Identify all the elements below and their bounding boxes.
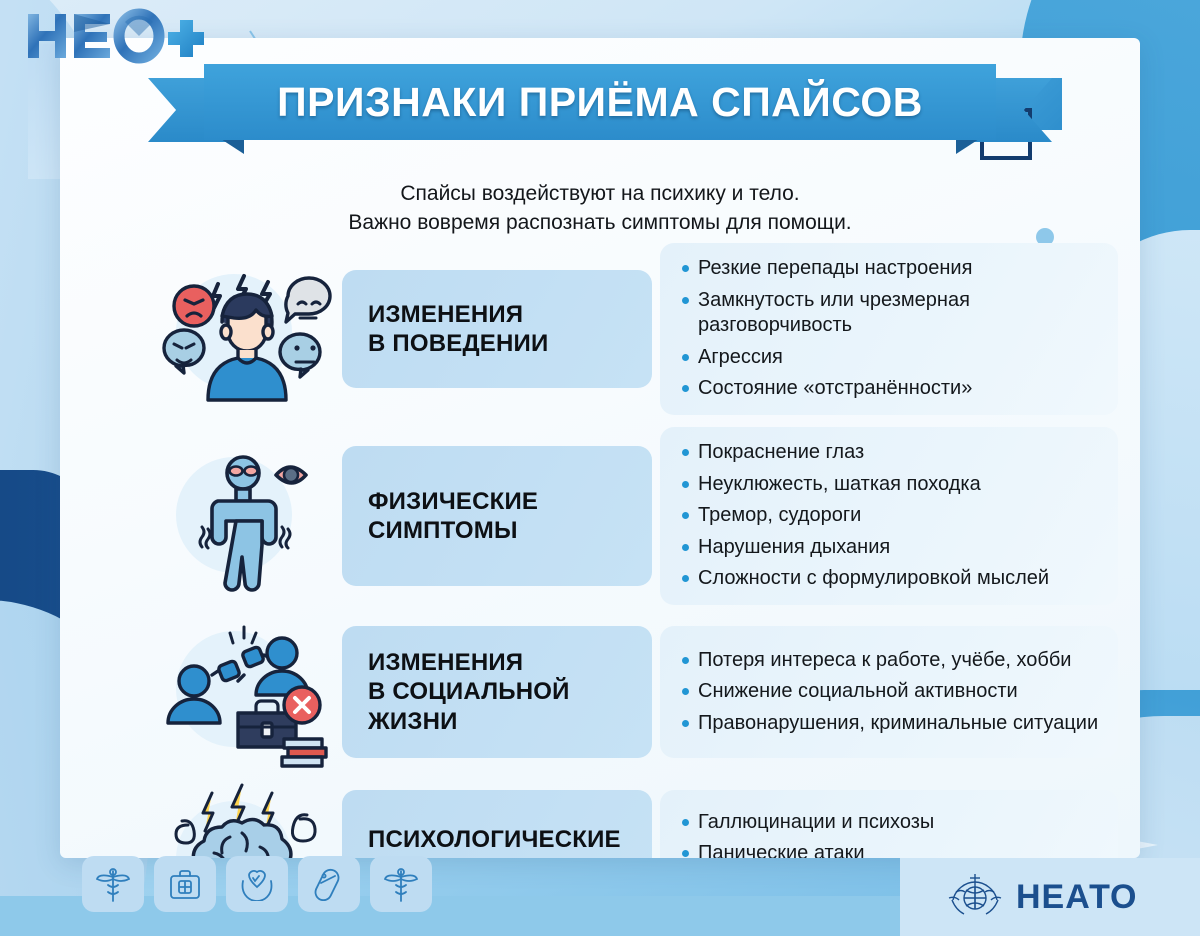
bullet-item: Сложности с формулировкой мыслей — [682, 566, 1102, 592]
section-label-line: ЖИЗНИ — [368, 707, 570, 736]
bullet-text: Потеря интереса к работе, учёбе, хобби — [698, 648, 1071, 674]
bullet-text: Резкие перепады настроения — [698, 256, 972, 282]
subtitle-block: Спайсы воздействуют на психику и тело. В… — [60, 180, 1140, 238]
bullet-item: Панические атаки — [682, 841, 1102, 858]
section-label-line: ИЗМЕНЕНИЯ — [368, 648, 570, 677]
bullet-dot-icon — [682, 265, 689, 272]
bullet-dot-icon — [682, 385, 689, 392]
capsule-pill-icon — [298, 856, 360, 912]
bullet-text: Тремор, судороги — [698, 503, 861, 529]
section-bullets-card: Потеря интереса к работе, учёбе, хобби С… — [660, 626, 1118, 758]
bullet-dot-icon — [682, 819, 689, 826]
bullet-text: Сложности с формулировкой мыслей — [698, 566, 1049, 592]
title-ribbon: ПРИЗНАКИ ПРИЁМА СПАЙСОВ — [60, 64, 1140, 156]
bullet-text: Покраснение глаз — [698, 440, 864, 466]
section-label-line: В СОЦИАЛЬНОЙ — [368, 677, 570, 706]
bullet-text: Неуклюжесть, шаткая походка — [698, 472, 981, 498]
brain-lightning-icon — [142, 779, 342, 858]
bullet-text: Замкнутость или чрезмерная разговорчивос… — [698, 288, 1102, 339]
section-label-card: ИЗМЕНЕНИЯ В СОЦИАЛЬНОЙ ЖИЗНИ — [342, 626, 652, 758]
who-emblem-icon — [946, 868, 1004, 926]
bullet-text: Нарушения дыхания — [698, 535, 890, 561]
bullet-dot-icon — [682, 688, 689, 695]
section-label-card: ПСИХОЛОГИЧЕСКИЕ СИМПТОМЫ — [342, 790, 652, 858]
neo-plus-logo-icon — [24, 8, 204, 64]
section-label-line: ФИЗИЧЕСКИЕ — [368, 487, 538, 516]
first-aid-kit-icon — [154, 856, 216, 912]
section-label-card: ИЗМЕНЕНИЯ В ПОВЕДЕНИИ — [342, 270, 652, 388]
bullet-item: Агрессия — [682, 345, 1102, 371]
bullet-dot-icon — [682, 297, 689, 304]
org-label: НЕАТО — [1016, 878, 1137, 917]
page-title: ПРИЗНАКИ ПРИЁМА СПАЙСОВ — [277, 79, 923, 126]
section-bullets-card: Галлюцинации и психозы Панические атаки … — [660, 790, 1118, 858]
bullet-item: Покраснение глаз — [682, 440, 1102, 466]
org-badge: НЕАТО — [900, 858, 1200, 936]
bullet-dot-icon — [682, 575, 689, 582]
caduceus-icon — [370, 856, 432, 912]
bullet-item: Резкие перепады настроения — [682, 256, 1102, 282]
bullet-dot-icon — [682, 481, 689, 488]
bullet-item: Правонарушения, криминальные ситуации — [682, 711, 1102, 737]
broken-social-link-briefcase-icon — [142, 617, 342, 767]
bullet-item: Потеря интереса к работе, учёбе, хобби — [682, 648, 1102, 674]
infographic-card: ПРИЗНАКИ ПРИЁМА СПАЙСОВ Спайсы воздейств… — [60, 38, 1140, 858]
bullet-dot-icon — [682, 544, 689, 551]
ribbon-body: ПРИЗНАКИ ПРИЁМА СПАЙСОВ — [204, 64, 996, 140]
bullet-text: Состояние «отстранённости» — [698, 376, 972, 402]
bullet-dot-icon — [682, 720, 689, 727]
footer-icon-strip — [82, 856, 432, 912]
section-label-line: ИЗМЕНЕНИЯ — [368, 300, 548, 329]
bullet-text: Панические атаки — [698, 841, 865, 858]
bullet-dot-icon — [682, 449, 689, 456]
bullet-text: Галлюцинации и психозы — [698, 810, 934, 836]
sections-list: ИЗМЕНЕНИЯ В ПОВЕДЕНИИ Резкие перепады на… — [142, 243, 1118, 858]
section-bullets-card: Резкие перепады настроения Замкнутость и… — [660, 243, 1118, 415]
section-label-line: ПСИХОЛОГИЧЕСКИЕ — [368, 825, 621, 854]
bullet-item: Неуклюжесть, шаткая походка — [682, 472, 1102, 498]
bullet-dot-icon — [682, 850, 689, 857]
bullet-item: Галлюцинации и психозы — [682, 810, 1102, 836]
angry-person-emotions-icon — [142, 254, 342, 404]
brand-logo — [24, 8, 204, 71]
bullet-text: Правонарушения, криминальные ситуации — [698, 711, 1098, 737]
subtitle-line-2: Важно вовремя распознать симптомы для по… — [60, 209, 1140, 238]
bullet-item: Замкнутость или чрезмерная разговорчивос… — [682, 288, 1102, 339]
subtitle-line-1: Спайсы воздействуют на психику и тело. — [60, 180, 1140, 209]
section-label-line: В ПОВЕДЕНИИ — [368, 329, 548, 358]
section-label-line: СИМПТОМЫ — [368, 516, 538, 545]
bullet-item: Нарушения дыхания — [682, 535, 1102, 561]
bullet-text: Агрессия — [698, 345, 783, 371]
bullet-item: Тремор, судороги — [682, 503, 1102, 529]
section-row: ИЗМЕНЕНИЯ В СОЦИАЛЬНОЙ ЖИЗНИ Потеря инте… — [142, 617, 1118, 767]
caduceus-icon — [82, 856, 144, 912]
trembling-figure-red-eye-icon — [142, 441, 342, 591]
section-row: ФИЗИЧЕСКИЕ СИМПТОМЫ Покраснение глаз Неу… — [142, 427, 1118, 605]
bullet-dot-icon — [682, 354, 689, 361]
heart-in-hands-icon — [226, 856, 288, 912]
bullet-dot-icon — [682, 657, 689, 664]
section-row: ПСИХОЛОГИЧЕСКИЕ СИМПТОМЫ Галлюцинации и … — [142, 779, 1118, 858]
bullet-text: Снижение социальной активности — [698, 679, 1018, 705]
bullet-item: Состояние «отстранённости» — [682, 376, 1102, 402]
section-label-card: ФИЗИЧЕСКИЕ СИМПТОМЫ — [342, 446, 652, 586]
section-row: ИЗМЕНЕНИЯ В ПОВЕДЕНИИ Резкие перепады на… — [142, 243, 1118, 415]
bullet-dot-icon — [682, 512, 689, 519]
section-bullets-card: Покраснение глаз Неуклюжесть, шаткая пох… — [660, 427, 1118, 605]
bullet-item: Снижение социальной активности — [682, 679, 1102, 705]
